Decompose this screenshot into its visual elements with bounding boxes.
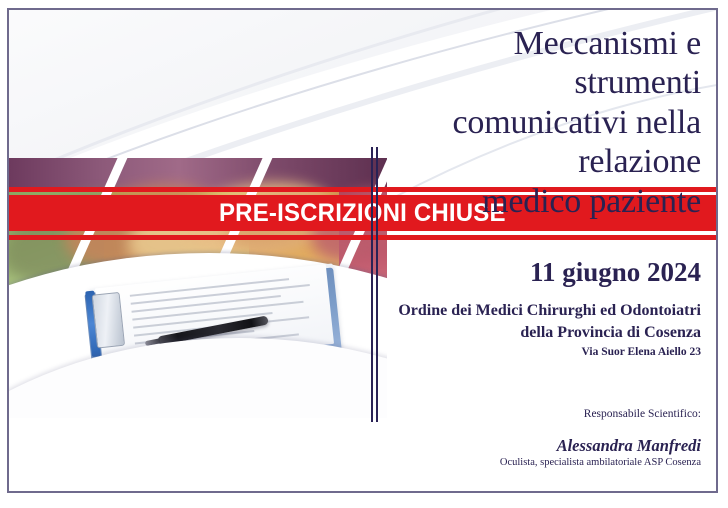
event-title-line-2: comunicativi nella relazione	[389, 103, 701, 182]
event-title-line-1: Meccanismi e strumenti	[389, 24, 701, 103]
clipboard-clip	[92, 292, 125, 349]
event-date: 11 giugno 2024	[389, 257, 701, 288]
text-column: Meccanismi e strumenti comunicativi nell…	[389, 10, 701, 468]
event-flyer: PRE-ISCRIZIONI CHIUSE Meccanismi e strum…	[0, 0, 728, 508]
event-venue-line-2: della Provincia di Cosenza	[389, 322, 701, 344]
collage-top-band	[9, 158, 387, 188]
responsible-role: Oculista, specialista ambilatoriale ASP …	[389, 457, 701, 468]
event-venue: Ordine dei Medici Chirurghi ed Odontoiat…	[389, 300, 701, 344]
event-venue-line-1: Ordine dei Medici Chirurghi ed Odontoiat…	[389, 300, 701, 322]
responsible-label: Responsabile Scientifico:	[389, 408, 701, 420]
flyer-frame: PRE-ISCRIZIONI CHIUSE Meccanismi e strum…	[7, 8, 718, 493]
event-address: Via Suor Elena Aiello 23	[389, 346, 701, 358]
vertical-divider	[371, 147, 378, 422]
event-title-line-3: medico paziente	[389, 182, 701, 221]
event-title: Meccanismi e strumenti comunicativi nell…	[389, 24, 701, 221]
responsible-name: Alessandra Manfredi	[389, 436, 701, 456]
